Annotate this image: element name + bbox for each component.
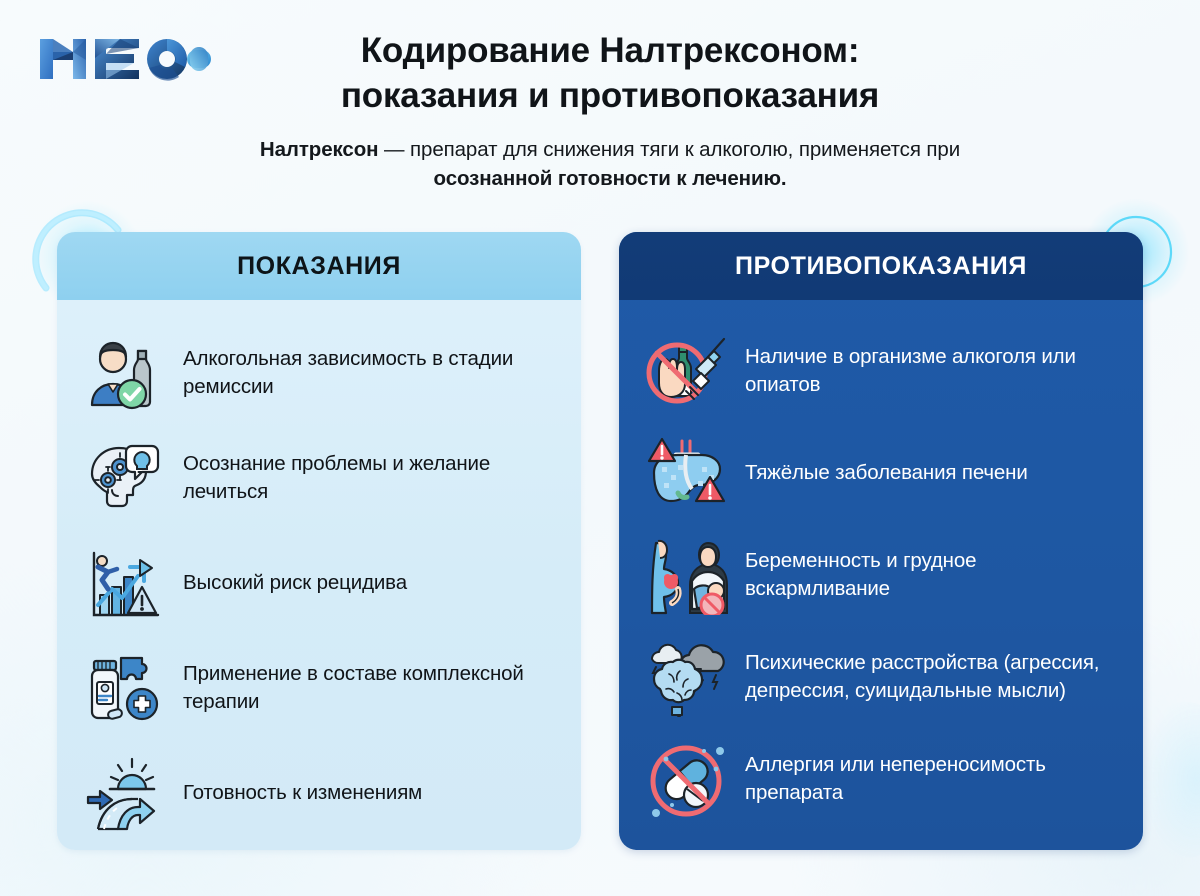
list-item-label: Алкогольная зависимость в стадии ремисси… [183,345,555,401]
list-item: Наличие в организме алкоголя или опиатов [645,320,1117,422]
indications-title: ПОКАЗАНИЯ [237,252,401,281]
contraindications-list: Наличие в организме алкоголя или опиатов [619,300,1143,850]
head-gears-lightbulb-icon [83,437,169,519]
panels-container: ПОКАЗАНИЯ [0,232,1200,852]
contraindications-panel: ПРОТИВОПОКАЗАНИЯ [619,232,1143,850]
list-item: Применение в составе комплексной терапии [83,635,555,740]
sunrise-road-arrow-icon [83,752,169,834]
page-header: Кодирование Налтрексоном: показания и пр… [0,0,1200,215]
list-item: Алкогольная зависимость в стадии ремисси… [83,320,555,425]
page-title-line1: Кодирование Налтрексоном: [200,28,1020,73]
list-item-label: Готовность к изменениям [183,779,422,807]
indications-list: Алкогольная зависимость в стадии ремисси… [57,300,581,850]
pill-bottle-puzzle-cross-icon [83,647,169,729]
list-item: Осознание проблемы и желание лечиться [83,425,555,530]
subtitle-drug-name: Налтрексон [260,138,379,161]
list-item-label: Высокий риск рецидива [183,569,407,597]
person-bottle-check-icon [83,332,169,414]
indications-header: ПОКАЗАНИЯ [57,232,581,300]
neo-plus-logo [36,30,212,88]
list-item-label: Аллергия или непереносимость препарата [745,751,1117,807]
infographic-page: Кодирование Налтрексоном: показания и пр… [0,0,1200,896]
contraindications-title: ПРОТИВОПОКАЗАНИЯ [735,252,1027,281]
list-item-label: Применение в составе комплексной терапии [183,660,555,716]
list-item-label: Беременность и грудное вскармливание [745,547,1117,603]
list-item: Беременность и грудное вскармливание [645,524,1117,626]
no-alcohol-syringe-icon [645,330,731,412]
list-item: Тяжёлые заболевания печени [645,422,1117,524]
pregnancy-breastfeeding-ban-icon [645,534,731,616]
subtitle-emphasis: осознанной готовности к лечению. [434,167,787,190]
list-item-label: Психические расстройства (агрессия, депр… [745,649,1117,705]
title-block: Кодирование Налтрексоном: показания и пр… [200,28,1020,193]
list-item: Готовность к изменениям [83,740,555,845]
list-item: Аллергия или непереносимость препарата [645,728,1117,830]
list-item: Высокий риск рецидива [83,530,555,635]
subtitle-middle: — препарат для снижения тяги к алкоголю,… [378,138,960,161]
list-item-label: Наличие в организме алкоголя или опиатов [745,343,1117,399]
liver-warning-icon [645,432,731,514]
list-item-label: Тяжёлые заболевания печени [745,459,1028,487]
no-pills-allergy-icon [645,738,731,820]
brain-storm-cloud-icon [645,636,731,718]
list-item-label: Осознание проблемы и желание лечиться [183,450,555,506]
indications-panel: ПОКАЗАНИЯ [57,232,581,850]
page-title: Кодирование Налтрексоном: показания и пр… [200,28,1020,118]
risk-chart-warning-icon [83,542,169,624]
page-subtitle: Налтрексон — препарат для снижения тяги … [200,135,1020,193]
page-title-line2: показания и противопоказания [200,73,1020,118]
list-item: Психические расстройства (агрессия, депр… [645,626,1117,728]
contraindications-header: ПРОТИВОПОКАЗАНИЯ [619,232,1143,300]
